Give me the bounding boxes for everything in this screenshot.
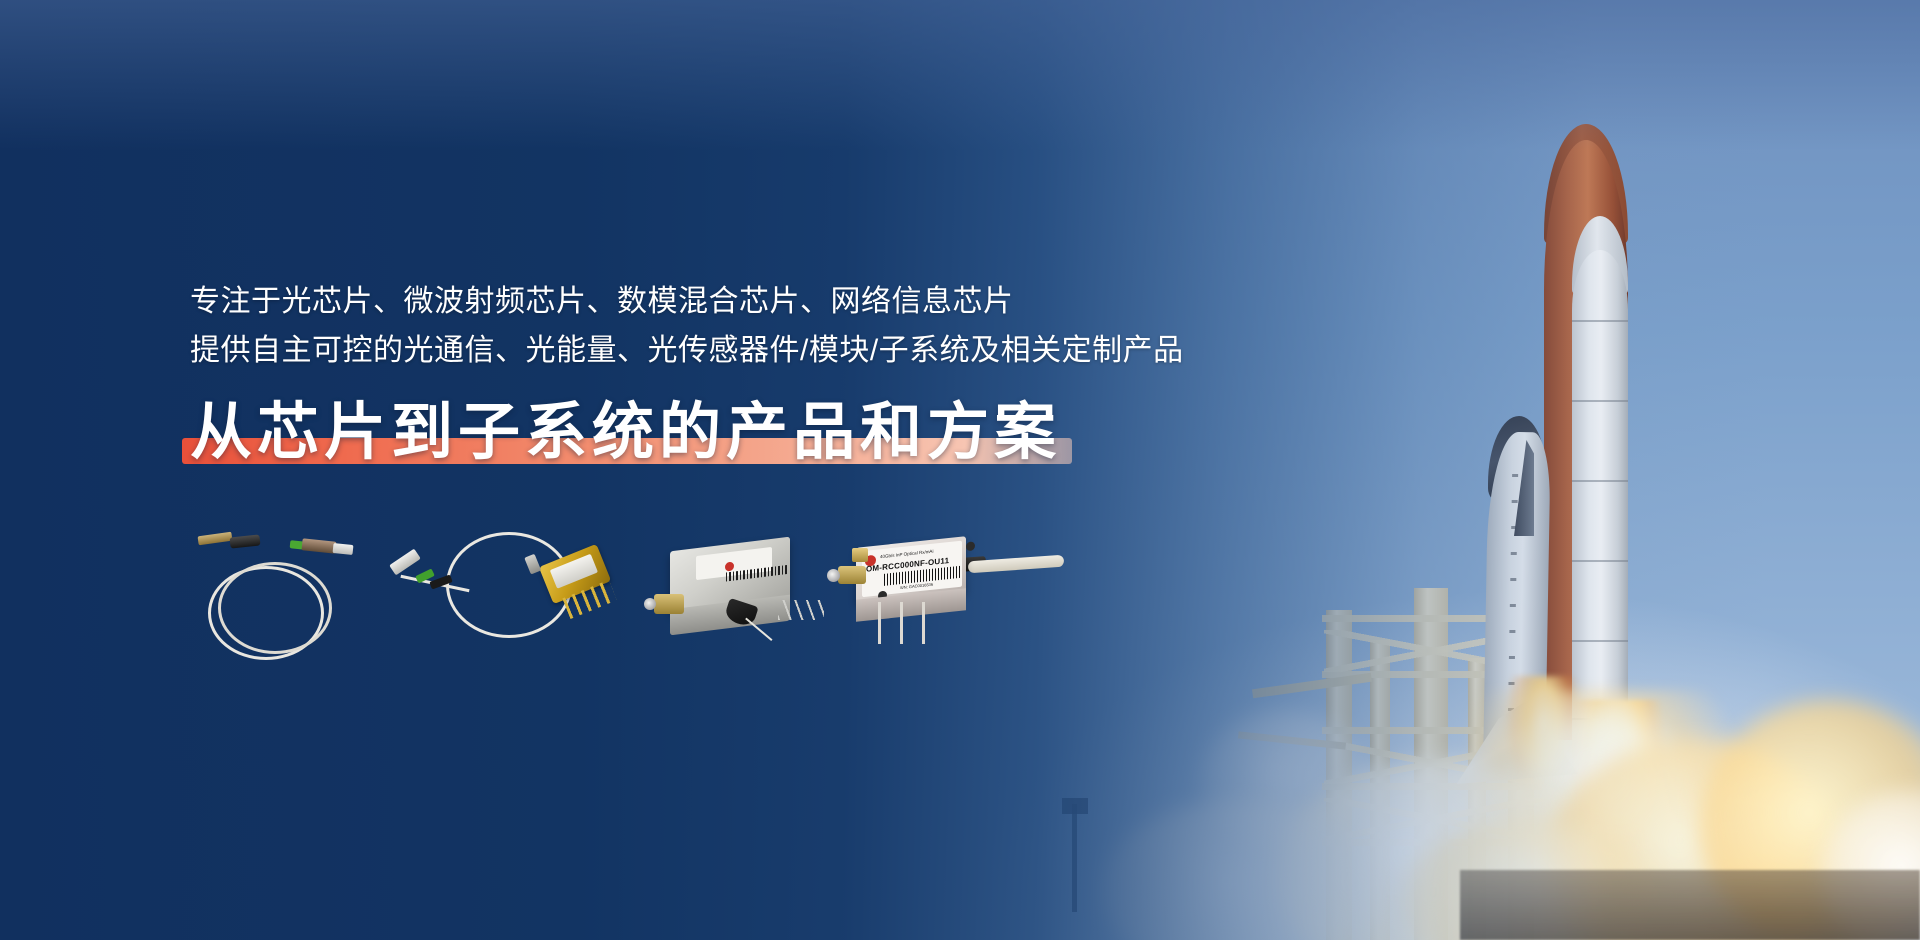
fiber-cable-loop	[218, 562, 332, 654]
banner-headline: 从芯片到子系统的产品和方案	[190, 397, 1061, 468]
fiber-connector-boot	[230, 534, 261, 548]
module-screw-hole	[966, 541, 975, 551]
top-vignette	[0, 0, 1920, 150]
receiver-module-housing: 40Gb/s InP Optical Rx/mAi OM-RCC000NF-OU…	[856, 536, 966, 604]
banner-content: 专注于光芯片、微波射频芯片、数模混合芯片、网络信息芯片 提供自主可控的光通信、光…	[190, 278, 1290, 468]
product-butterfly-laser	[390, 520, 640, 670]
fiber-connector-tip	[333, 543, 354, 555]
product-optical-receiver-module: 40Gb/s InP Optical Rx/mAi OM-RCC000NF-OU…	[840, 536, 1070, 666]
hero-banner: 专注于光芯片、微波射频芯片、数模混合芯片、网络信息芯片 提供自主可控的光通信、光…	[0, 0, 1920, 940]
receiver-module-pin-row	[878, 602, 938, 644]
gold-waveguide-port	[852, 548, 868, 562]
banner-subtitle-line-1: 专注于光芯片、微波射频芯片、数模混合芯片、网络信息芯片	[190, 278, 1290, 327]
product-rf-module	[660, 544, 820, 654]
sma-connector	[654, 594, 684, 614]
rf-module-label	[696, 547, 772, 580]
receiver-module-label: 40Gb/s InP Optical Rx/mAi OM-RCC000NF-OU…	[862, 541, 962, 598]
company-logo-icon	[725, 562, 734, 572]
barcode-icon	[726, 565, 788, 582]
butterfly-lid	[550, 554, 598, 589]
product-image-row: 40Gb/s InP Optical Rx/mAi OM-RCC000NF-OU…	[190, 520, 1070, 680]
banner-subtitle-line-2: 提供自主可控的光通信、光能量、光传感器件/模块/子系统及相关定制产品	[190, 327, 1290, 376]
fiber-connector-housing	[301, 538, 336, 553]
rf-module-pin-row	[778, 600, 824, 620]
fiber-connector-ferrule	[198, 532, 233, 546]
headline-group: 从芯片到子系统的产品和方案	[190, 397, 1061, 468]
product-fiber-patch-cord	[190, 528, 360, 658]
sma-connector	[838, 566, 866, 584]
fiber-connector-housing	[389, 549, 421, 576]
butterfly-pin-row	[562, 580, 617, 619]
